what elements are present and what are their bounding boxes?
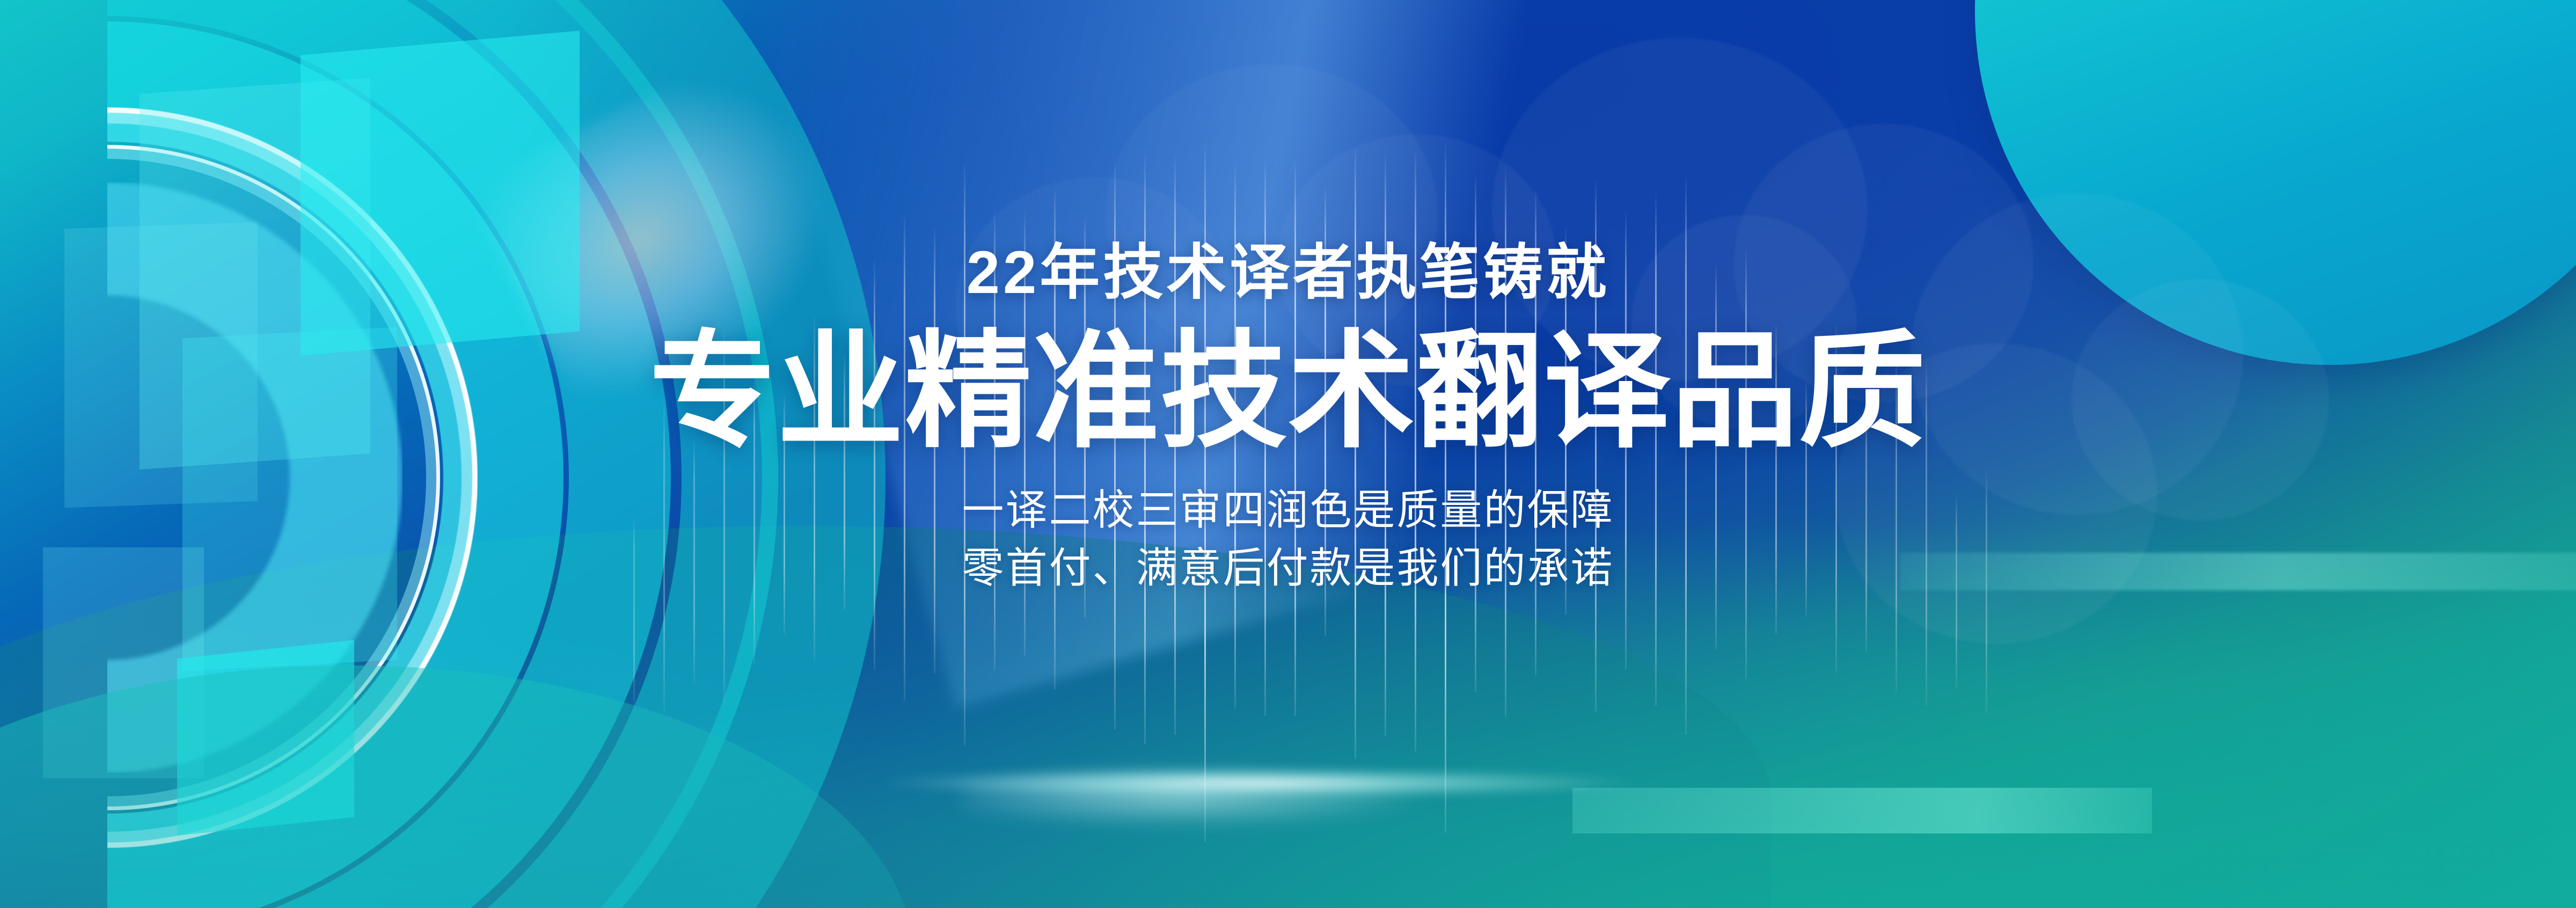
banner-headline: 专业精准技术翻译品质 — [649, 327, 1927, 457]
banner-text-block: 22年技术译者执笔铸就 专业精准技术翻译品质 一译二校三审四润色是质量的保障 零… — [0, 0, 2576, 908]
banner-eyebrow: 22年技术译者执笔铸就 — [967, 243, 1610, 303]
banner-tagline-1: 一译二校三审四润色是质量的保障 — [962, 486, 1614, 534]
banner-taglines: 一译二校三审四润色是质量的保障 零首付、满意后付款是我们的承诺 — [962, 486, 1614, 592]
promotional-banner: 22年技术译者执笔铸就 专业精准技术翻译品质 一译二校三审四润色是质量的保障 零… — [0, 0, 2576, 908]
banner-tagline-2: 零首付、满意后付款是我们的承诺 — [962, 544, 1614, 592]
